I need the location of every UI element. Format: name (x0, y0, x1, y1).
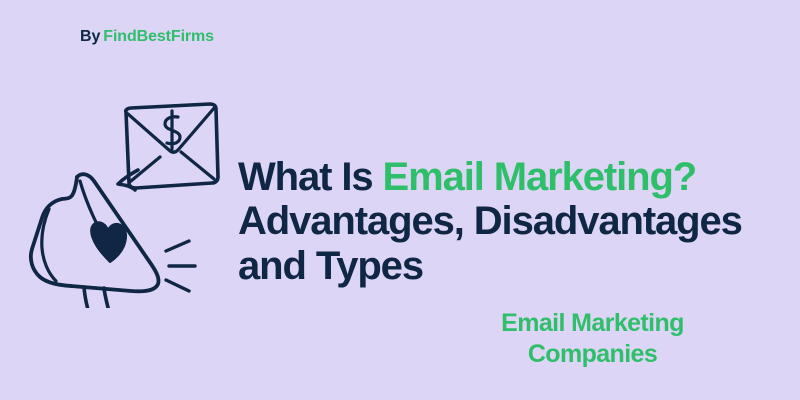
headline-plain: What Is (238, 155, 383, 199)
banner: ByFindBestFirms (0, 0, 800, 400)
dollar-sign-icon (165, 111, 180, 149)
headline-line-3: and Types (238, 244, 788, 288)
footer-tag-line-1: Email Marketing (455, 308, 730, 339)
byline: ByFindBestFirms (80, 29, 214, 45)
envelope-speech-bubble-icon (118, 104, 218, 190)
headline-accent: Email Marketing? (383, 155, 697, 199)
illustration-megaphone-email (14, 78, 244, 308)
megaphone-icon (31, 174, 159, 308)
byline-prefix: By (80, 28, 100, 45)
headline-line-1: What Is Email Marketing? (238, 155, 788, 199)
byline-brand: FindBestFirms (103, 28, 214, 45)
footer-tag-line-2: Companies (455, 339, 730, 370)
footer-tag: Email Marketing Companies (455, 308, 730, 369)
headline-line-2: Advantages, Disadvantages (238, 199, 788, 243)
page-title: What Is Email Marketing? Advantages, Dis… (238, 155, 788, 288)
sound-lines-icon (166, 241, 195, 291)
